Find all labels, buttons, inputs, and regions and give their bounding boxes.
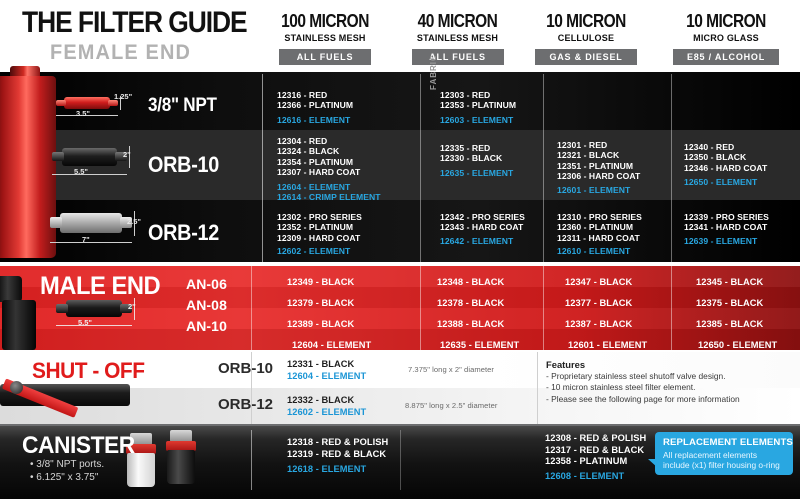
column-micron-label: 40 MICRON (404, 12, 512, 31)
dim-length-orb10: 5.5" (74, 167, 88, 176)
part-line: 12330 - BLACK (440, 153, 513, 163)
part-line: 12345 - BLACK (696, 277, 763, 287)
part-cell: 12335 - RED 12330 - BLACK 12635 - ELEMEN… (440, 143, 513, 178)
fabric-tag: FABRIC (429, 54, 438, 90)
part-line: 12316 - RED (277, 90, 353, 100)
column-header-40-micron: 40 MICRON STAINLESS MESH ALL FUELS (395, 10, 520, 72)
part-cell: 12342 - PRO SERIES 12343 - HARD COAT 126… (440, 212, 525, 246)
part-line: 12379 - BLACK (287, 298, 354, 308)
separator-male (0, 262, 800, 266)
feature-item: - Proprietary stainless steel shutoff va… (546, 371, 740, 382)
features-list: - Proprietary stainless steel shutoff va… (546, 371, 740, 405)
part-cell: 12308 - RED & POLISH 12317 - RED & BLACK… (545, 433, 646, 482)
element-line: 12610 - ELEMENT (557, 246, 642, 256)
shutoff-size-orb-12: ORB-12 (218, 396, 273, 413)
part-cell: 12301 - RED 12321 - BLACK 12351 - PLATIN… (557, 140, 640, 195)
shutoff-size-orb-10: ORB-10 (218, 360, 273, 377)
part-line: 12319 - RED & BLACK (287, 449, 388, 461)
element-line: 12639 - ELEMENT (684, 236, 769, 246)
part-line: 12389 - BLACK (287, 319, 354, 329)
element-line: 12601 - ELEMENT (568, 340, 647, 350)
part-line: 12340 - RED (684, 142, 767, 152)
part-line: 12351 - PLATINUM (557, 161, 640, 171)
element-line: 12608 - ELEMENT (545, 471, 646, 483)
part-line: 12318 - RED & POLISH (287, 437, 388, 449)
element-line: 12650 - ELEMENT (698, 340, 777, 350)
part-line: 12366 - PLATINUM (277, 100, 353, 110)
part-line: 12304 - RED (277, 136, 381, 146)
callout-body-line: All replacement elements (663, 450, 786, 460)
element-line: 12650 - ELEMENT (684, 177, 767, 187)
column-micron-label: 10 MICRON (662, 12, 789, 31)
feature-item: - 10 micron stainless steel filter eleme… (546, 382, 740, 393)
element-line: 12604 - ELEMENT (292, 340, 371, 350)
section-title-canister: CANISTER (22, 432, 135, 460)
part-line: 12350 - BLACK (684, 152, 767, 162)
part-line: 12375 - BLACK (696, 298, 763, 308)
features-block: Features - Proprietary stainless steel s… (546, 359, 740, 405)
divider-label-col (262, 74, 263, 262)
part-line: 12354 - PLATINUM (277, 157, 381, 167)
column-type-label: STAINLESS MESH (398, 32, 517, 45)
part-line: 12360 - PLATINUM (557, 222, 642, 232)
divider-col-2 (543, 74, 544, 262)
element-line: 12635 - ELEMENT (440, 340, 519, 350)
part-cell: 12310 - PRO SERIES 12360 - PLATINUM 1231… (557, 212, 642, 257)
element-line: 12616 - ELEMENT (277, 115, 353, 125)
part-cell: 12331 - BLACK 12604 - ELEMENT (287, 359, 366, 382)
part-line: 12331 - BLACK (287, 359, 366, 371)
part-line: 12358 - PLATINUM (545, 456, 646, 468)
divider-canister-2 (400, 430, 401, 490)
divider-col-3-male (671, 266, 672, 350)
column-header-10-micron-micro-glass: 10 MICRON MICRO GLASS E85 / ALCOHOL (652, 10, 800, 72)
part-line: 12341 - HARD COAT (684, 222, 769, 232)
canister-bullets: • 3/8" NPT ports. • 6.125" x 3.75" (30, 458, 104, 484)
dim-diameter-male: 2" (128, 302, 136, 311)
section-title-shut-off: SHUT - OFF (32, 358, 145, 384)
element-line: 12601 - ELEMENT (557, 185, 640, 195)
part-line: 12346 - HARD COAT (684, 163, 767, 173)
divider-col-3 (671, 74, 672, 262)
column-fuel-badge: GAS & DIESEL (535, 49, 636, 65)
large-red-canister-illustration (0, 76, 56, 258)
callout-title: REPLACEMENT ELEMENTS (663, 437, 786, 449)
part-line: 12308 - RED & POLISH (545, 433, 646, 445)
canister-bullet: • 3/8" NPT ports. (30, 458, 104, 471)
row-label-orb-12: ORB-12 (148, 220, 219, 246)
part-line: 12342 - PRO SERIES (440, 212, 525, 222)
part-line: 12378 - BLACK (437, 298, 504, 308)
divider-col-1 (420, 74, 421, 262)
element-line: 12602 - ELEMENT (277, 246, 362, 256)
column-micron-label: 100 MICRON (265, 12, 385, 31)
part-line: 12385 - BLACK (696, 319, 763, 329)
male-size-an-10: AN-10 (186, 318, 227, 334)
part-cell: 12332 - BLACK 12602 - ELEMENT (287, 395, 366, 418)
part-line: 12321 - BLACK (557, 150, 640, 160)
row-label-orb-10: ORB-10 (148, 152, 219, 178)
part-line: 12353 - PLATINUM (440, 100, 516, 110)
part-cell: 12304 - RED 12324 - BLACK 12354 - PLATIN… (277, 136, 381, 202)
part-line: 12387 - BLACK (565, 319, 632, 329)
shutoff-dimension-orb10: 7.375" long x 2" diameter (408, 365, 494, 374)
part-cell: 12303 - RED 12353 - PLATINUM 12603 - ELE… (440, 90, 516, 125)
part-cell: 12340 - RED 12350 - BLACK 12346 - HARD C… (684, 142, 767, 188)
separator-shutoff (0, 350, 800, 352)
part-line: 12343 - HARD COAT (440, 222, 525, 232)
part-cell: 12318 - RED & POLISH 12319 - RED & BLACK… (287, 437, 388, 476)
part-line: 12302 - PRO SERIES (277, 212, 362, 222)
column-micron-label: 10 MICRON (529, 12, 643, 31)
feature-item: - Please see the following page for more… (546, 394, 740, 405)
part-line: 12332 - BLACK (287, 395, 366, 407)
part-line: 12310 - PRO SERIES (557, 212, 642, 222)
dim-length-male: 5.5" (78, 318, 92, 327)
part-line: 12352 - PLATINUM (277, 222, 362, 232)
part-line: 12349 - BLACK (287, 277, 354, 287)
divider-col-1-male (420, 266, 421, 350)
column-fuel-badge: ALL FUELS (279, 49, 371, 65)
element-line: 12604 - ELEMENT (277, 182, 381, 192)
shutoff-dimension-orb12: 8.875" long x 2.5" diameter (405, 401, 497, 410)
dim-length-38npt: 3.5" (76, 109, 90, 118)
male-size-an-08: AN-08 (186, 297, 227, 313)
section-title-male-end: MALE END (40, 272, 160, 301)
page-title: THE FILTER GUIDE (22, 8, 247, 38)
element-line: 12614 - CRIMP ELEMENT (277, 192, 381, 202)
column-fuel-badge: E85 / ALCOHOL (673, 49, 779, 65)
callout-body: All replacement elements include (x1) fi… (663, 450, 786, 471)
male-size-an-06: AN-06 (186, 276, 227, 292)
female-row-orb10-bg (0, 130, 800, 200)
dim-diameter-orb10: 2" (123, 150, 131, 159)
part-line: 12347 - BLACK (565, 277, 632, 287)
part-line: 12377 - BLACK (565, 298, 632, 308)
divider-features-shut (537, 352, 538, 424)
part-line: 12303 - RED (440, 90, 516, 100)
part-cell: 12302 - PRO SERIES 12352 - PLATINUM 1230… (277, 212, 362, 257)
part-line: 12317 - RED & BLACK (545, 445, 646, 457)
column-header-10-micron-cellulose: 10 MICRON CELLULOSE GAS & DIESEL (520, 10, 652, 72)
features-heading: Features (546, 359, 740, 371)
element-line: 12642 - ELEMENT (440, 236, 525, 246)
callout-body-line: include (x1) filter housing o-ring (663, 460, 786, 470)
part-line: 12324 - BLACK (277, 146, 381, 156)
dim-diameter-orb12: 2.5" (127, 217, 141, 226)
column-type-label: CELLULOSE (523, 32, 648, 45)
column-fuel-badge: ALL FUELS (412, 49, 504, 65)
separator-canister (0, 424, 800, 426)
replacement-elements-callout: REPLACEMENT ELEMENTS All replacement ele… (655, 432, 793, 475)
page-subtitle: FEMALE END (50, 41, 266, 65)
element-line: 12602 - ELEMENT (287, 407, 366, 419)
element-line: 12603 - ELEMENT (440, 115, 516, 125)
row-label-38-npt: 3/8" NPT (148, 95, 217, 117)
part-cell: 12316 - RED 12366 - PLATINUM 12616 - ELE… (277, 90, 353, 125)
part-line: 12309 - HARD COAT (277, 233, 362, 243)
part-cell: 12339 - PRO SERIES 12341 - HARD COAT 126… (684, 212, 769, 246)
canister-bullet: • 6.125" x 3.75" (30, 471, 104, 484)
filter-guide-sheet: THE FILTER GUIDE FEMALE END 100 MICRON S… (0, 0, 800, 499)
divider-label-col-male (251, 266, 252, 350)
column-headers: 100 MICRON STAINLESS MESH ALL FUELS 40 M… (255, 10, 800, 72)
divider-col-2-male (543, 266, 544, 350)
part-line: 12301 - RED (557, 140, 640, 150)
part-line: 12311 - HARD COAT (557, 233, 642, 243)
canister-illustration-black (166, 430, 196, 488)
column-type-label: MICRO GLASS (656, 32, 797, 45)
column-type-label: STAINLESS MESH (259, 32, 392, 45)
dim-length-orb12: 7" (82, 235, 90, 244)
element-line: 12604 - ELEMENT (287, 371, 366, 383)
element-line: 12635 - ELEMENT (440, 168, 513, 178)
part-line: 12306 - HARD COAT (557, 171, 640, 181)
divider-canister-1 (251, 430, 252, 490)
dim-diameter-38npt: 1.25" (114, 92, 132, 101)
part-line: 12348 - BLACK (437, 277, 504, 287)
part-line: 12339 - PRO SERIES (684, 212, 769, 222)
part-line: 12388 - BLACK (437, 319, 504, 329)
part-line: 12335 - RED (440, 143, 513, 153)
element-line: 12618 - ELEMENT (287, 464, 388, 476)
title-block: THE FILTER GUIDE FEMALE END (22, 8, 277, 65)
part-line: 12307 - HARD COAT (277, 167, 381, 177)
